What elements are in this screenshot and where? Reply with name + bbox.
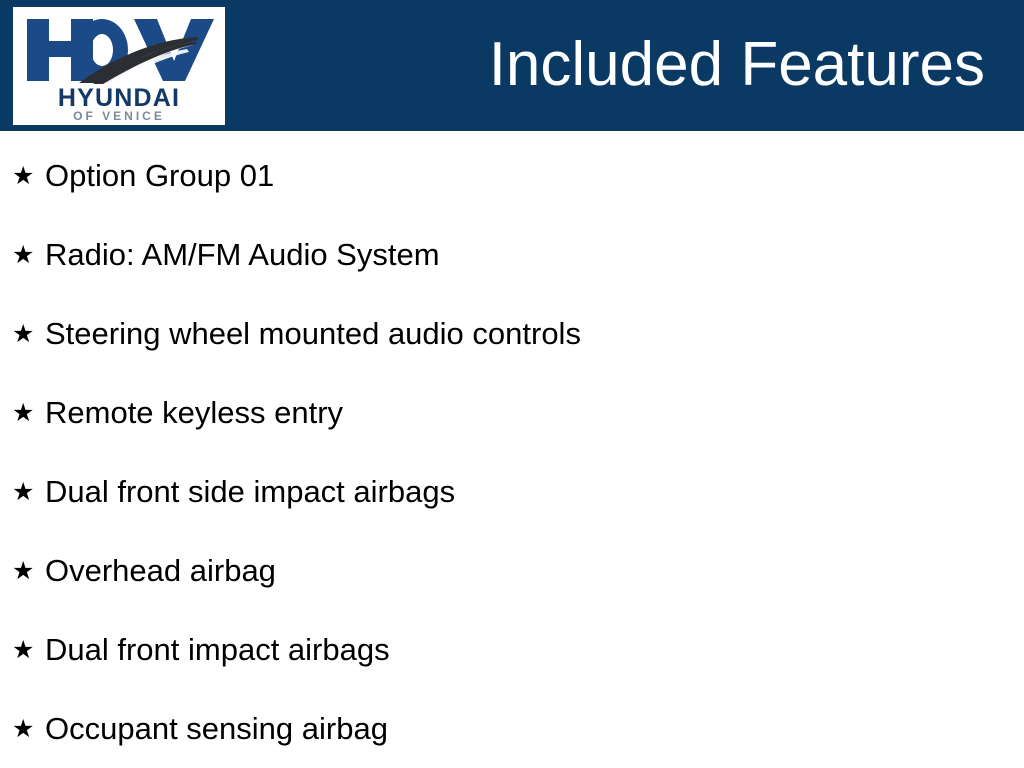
feature-label: Dual front impact airbags bbox=[45, 632, 390, 668]
feature-label: Option Group 01 bbox=[45, 158, 274, 194]
star-bullet-icon: ★ bbox=[12, 556, 32, 586]
page-title: Included Features bbox=[489, 28, 985, 102]
list-item: ★Overhead airbag bbox=[0, 531, 1024, 610]
slide-included-features: HYUNDAI OF VENICE Included Features ★Opt… bbox=[0, 0, 1024, 768]
list-item: ★Dual front side impact airbags bbox=[0, 452, 1024, 531]
star-bullet-icon: ★ bbox=[12, 398, 32, 428]
feature-label: Remote keyless entry bbox=[45, 395, 343, 431]
feature-label: Steering wheel mounted audio controls bbox=[45, 316, 581, 352]
star-bullet-icon: ★ bbox=[12, 714, 32, 744]
list-item: ★Steering wheel mounted audio controls bbox=[0, 294, 1024, 373]
star-bullet-icon: ★ bbox=[12, 477, 32, 507]
dealer-logo: HYUNDAI OF VENICE bbox=[13, 7, 225, 125]
hov-wordmark-icon bbox=[21, 13, 217, 91]
star-bullet-icon: ★ bbox=[12, 161, 32, 191]
logo-brand-text: HYUNDAI bbox=[13, 85, 225, 111]
header-band: HYUNDAI OF VENICE Included Features bbox=[0, 0, 1024, 131]
star-bullet-icon: ★ bbox=[12, 319, 32, 349]
list-item: ★Dual front impact airbags bbox=[0, 610, 1024, 689]
included-features-list: ★Option Group 01★Radio: AM/FM Audio Syst… bbox=[0, 131, 1024, 768]
feature-label: Radio: AM/FM Audio System bbox=[45, 237, 440, 273]
star-bullet-icon: ★ bbox=[12, 635, 32, 665]
list-item: ★Option Group 01 bbox=[0, 136, 1024, 215]
star-bullet-icon: ★ bbox=[12, 240, 32, 270]
list-item: ★Remote keyless entry bbox=[0, 373, 1024, 452]
list-item: ★Radio: AM/FM Audio System bbox=[0, 215, 1024, 294]
logo-location-text: OF VENICE bbox=[13, 110, 225, 123]
list-item: ★Occupant sensing airbag bbox=[0, 689, 1024, 768]
logo-inner: HYUNDAI OF VENICE bbox=[13, 7, 225, 125]
feature-label: Dual front side impact airbags bbox=[45, 474, 455, 510]
feature-label: Overhead airbag bbox=[45, 553, 276, 589]
feature-label: Occupant sensing airbag bbox=[45, 711, 388, 747]
